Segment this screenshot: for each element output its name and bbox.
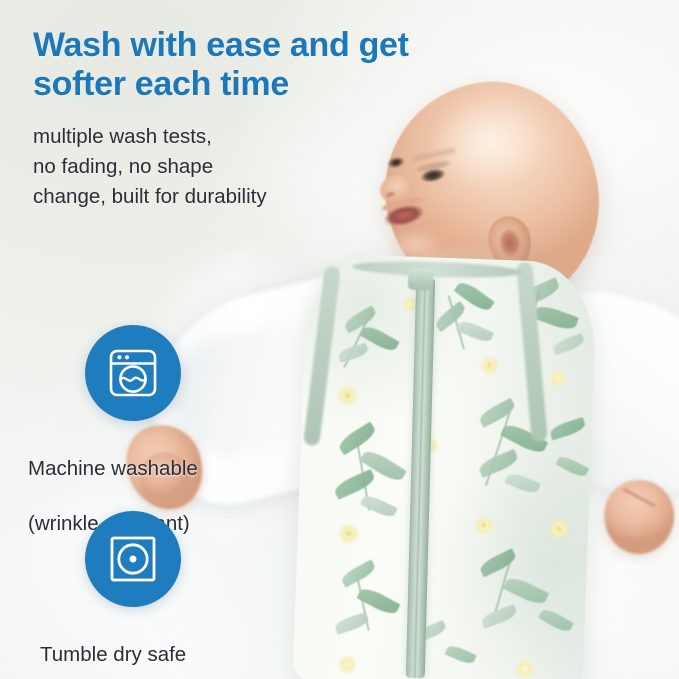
sleep-sack-zipper-pull	[408, 268, 434, 291]
machine-washable-label-line-1: Machine washable	[28, 455, 328, 482]
product-feature-graphic: Wash with ease and get softer each time …	[0, 0, 679, 679]
machine-washable-label-line-2: (wrinkle-resistant)	[28, 510, 328, 537]
page-subtitle-line-3: change, built for durability	[33, 182, 363, 212]
tumble-dry-badge	[85, 511, 181, 607]
page-subtitle-line-2: no fading, no shape	[33, 152, 363, 182]
tumble-dry-label-line-1: Tumble dry safe	[40, 641, 340, 668]
page-title-line-2: softer each time	[33, 65, 473, 104]
page-title-line-1: Wash with ease and get	[33, 26, 473, 65]
flower-center	[487, 362, 492, 367]
page-title: Wash with ease and get softer each time	[33, 26, 473, 105]
page-subtitle: multiple wash tests, no fading, no shape…	[33, 122, 363, 212]
washing-machine-icon	[106, 346, 160, 400]
tumble-dry-icon	[106, 532, 160, 586]
tumble-dry-label: Tumble dry safe	[40, 614, 340, 679]
machine-washable-badge	[85, 325, 181, 421]
page-subtitle-line-1: multiple wash tests,	[33, 122, 363, 152]
